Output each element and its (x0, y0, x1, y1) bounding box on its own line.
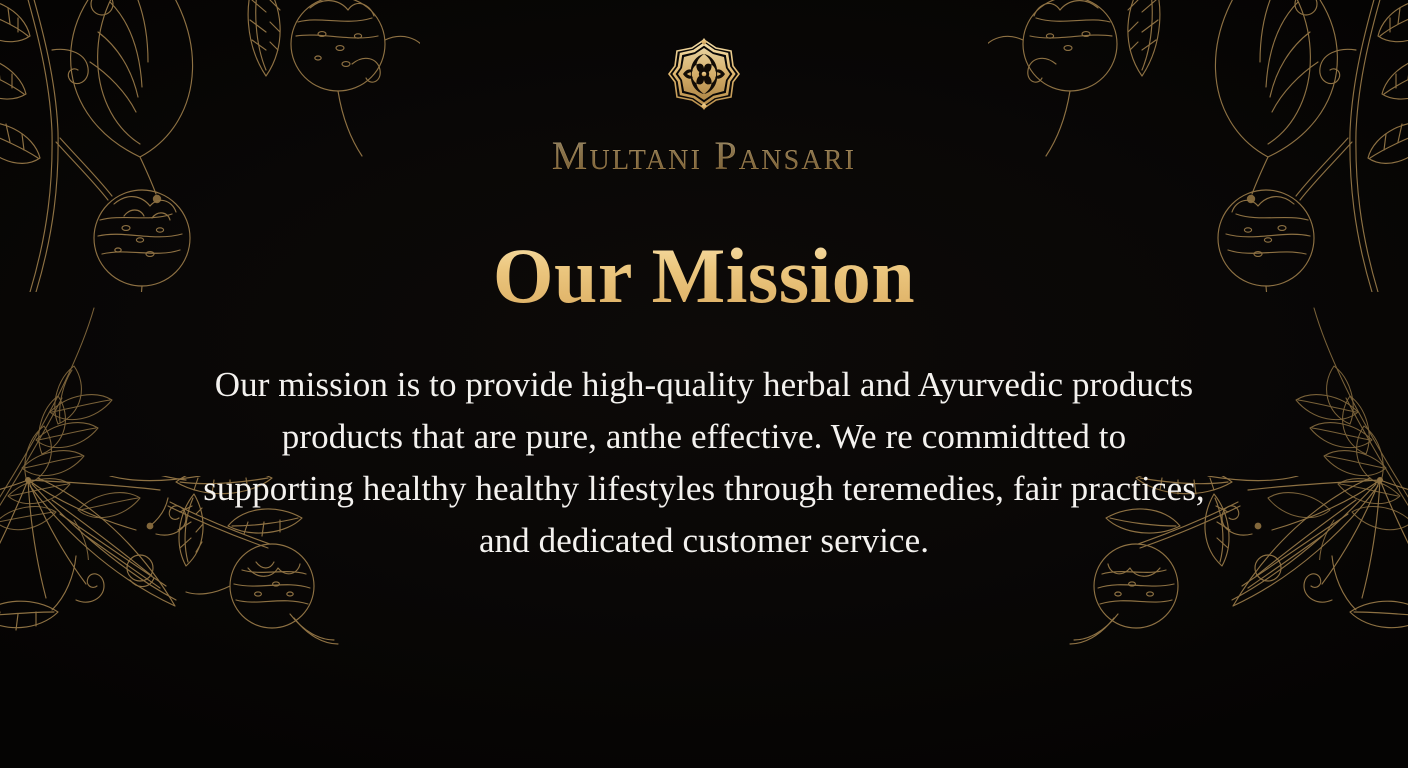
mission-line-4: and dedicated customer service. (149, 515, 1259, 567)
mission-slide: Multani Pansari Our Mission Our mission … (0, 0, 1408, 768)
mission-statement: Our mission is to provide high-quality h… (149, 359, 1259, 567)
mission-line-3: supporting healthy healthy lifestyles th… (149, 463, 1259, 515)
mission-line-1: Our mission is to provide high-quality h… (149, 359, 1259, 411)
page-title: Our Mission (493, 237, 915, 315)
mission-line-2: products that are pure, anthe effective.… (149, 411, 1259, 463)
ornamental-medallion-icon (667, 38, 741, 110)
brand-wordmark: Multani Pansari (552, 132, 856, 179)
slide-content: Multani Pansari Our Mission Our mission … (0, 0, 1408, 768)
